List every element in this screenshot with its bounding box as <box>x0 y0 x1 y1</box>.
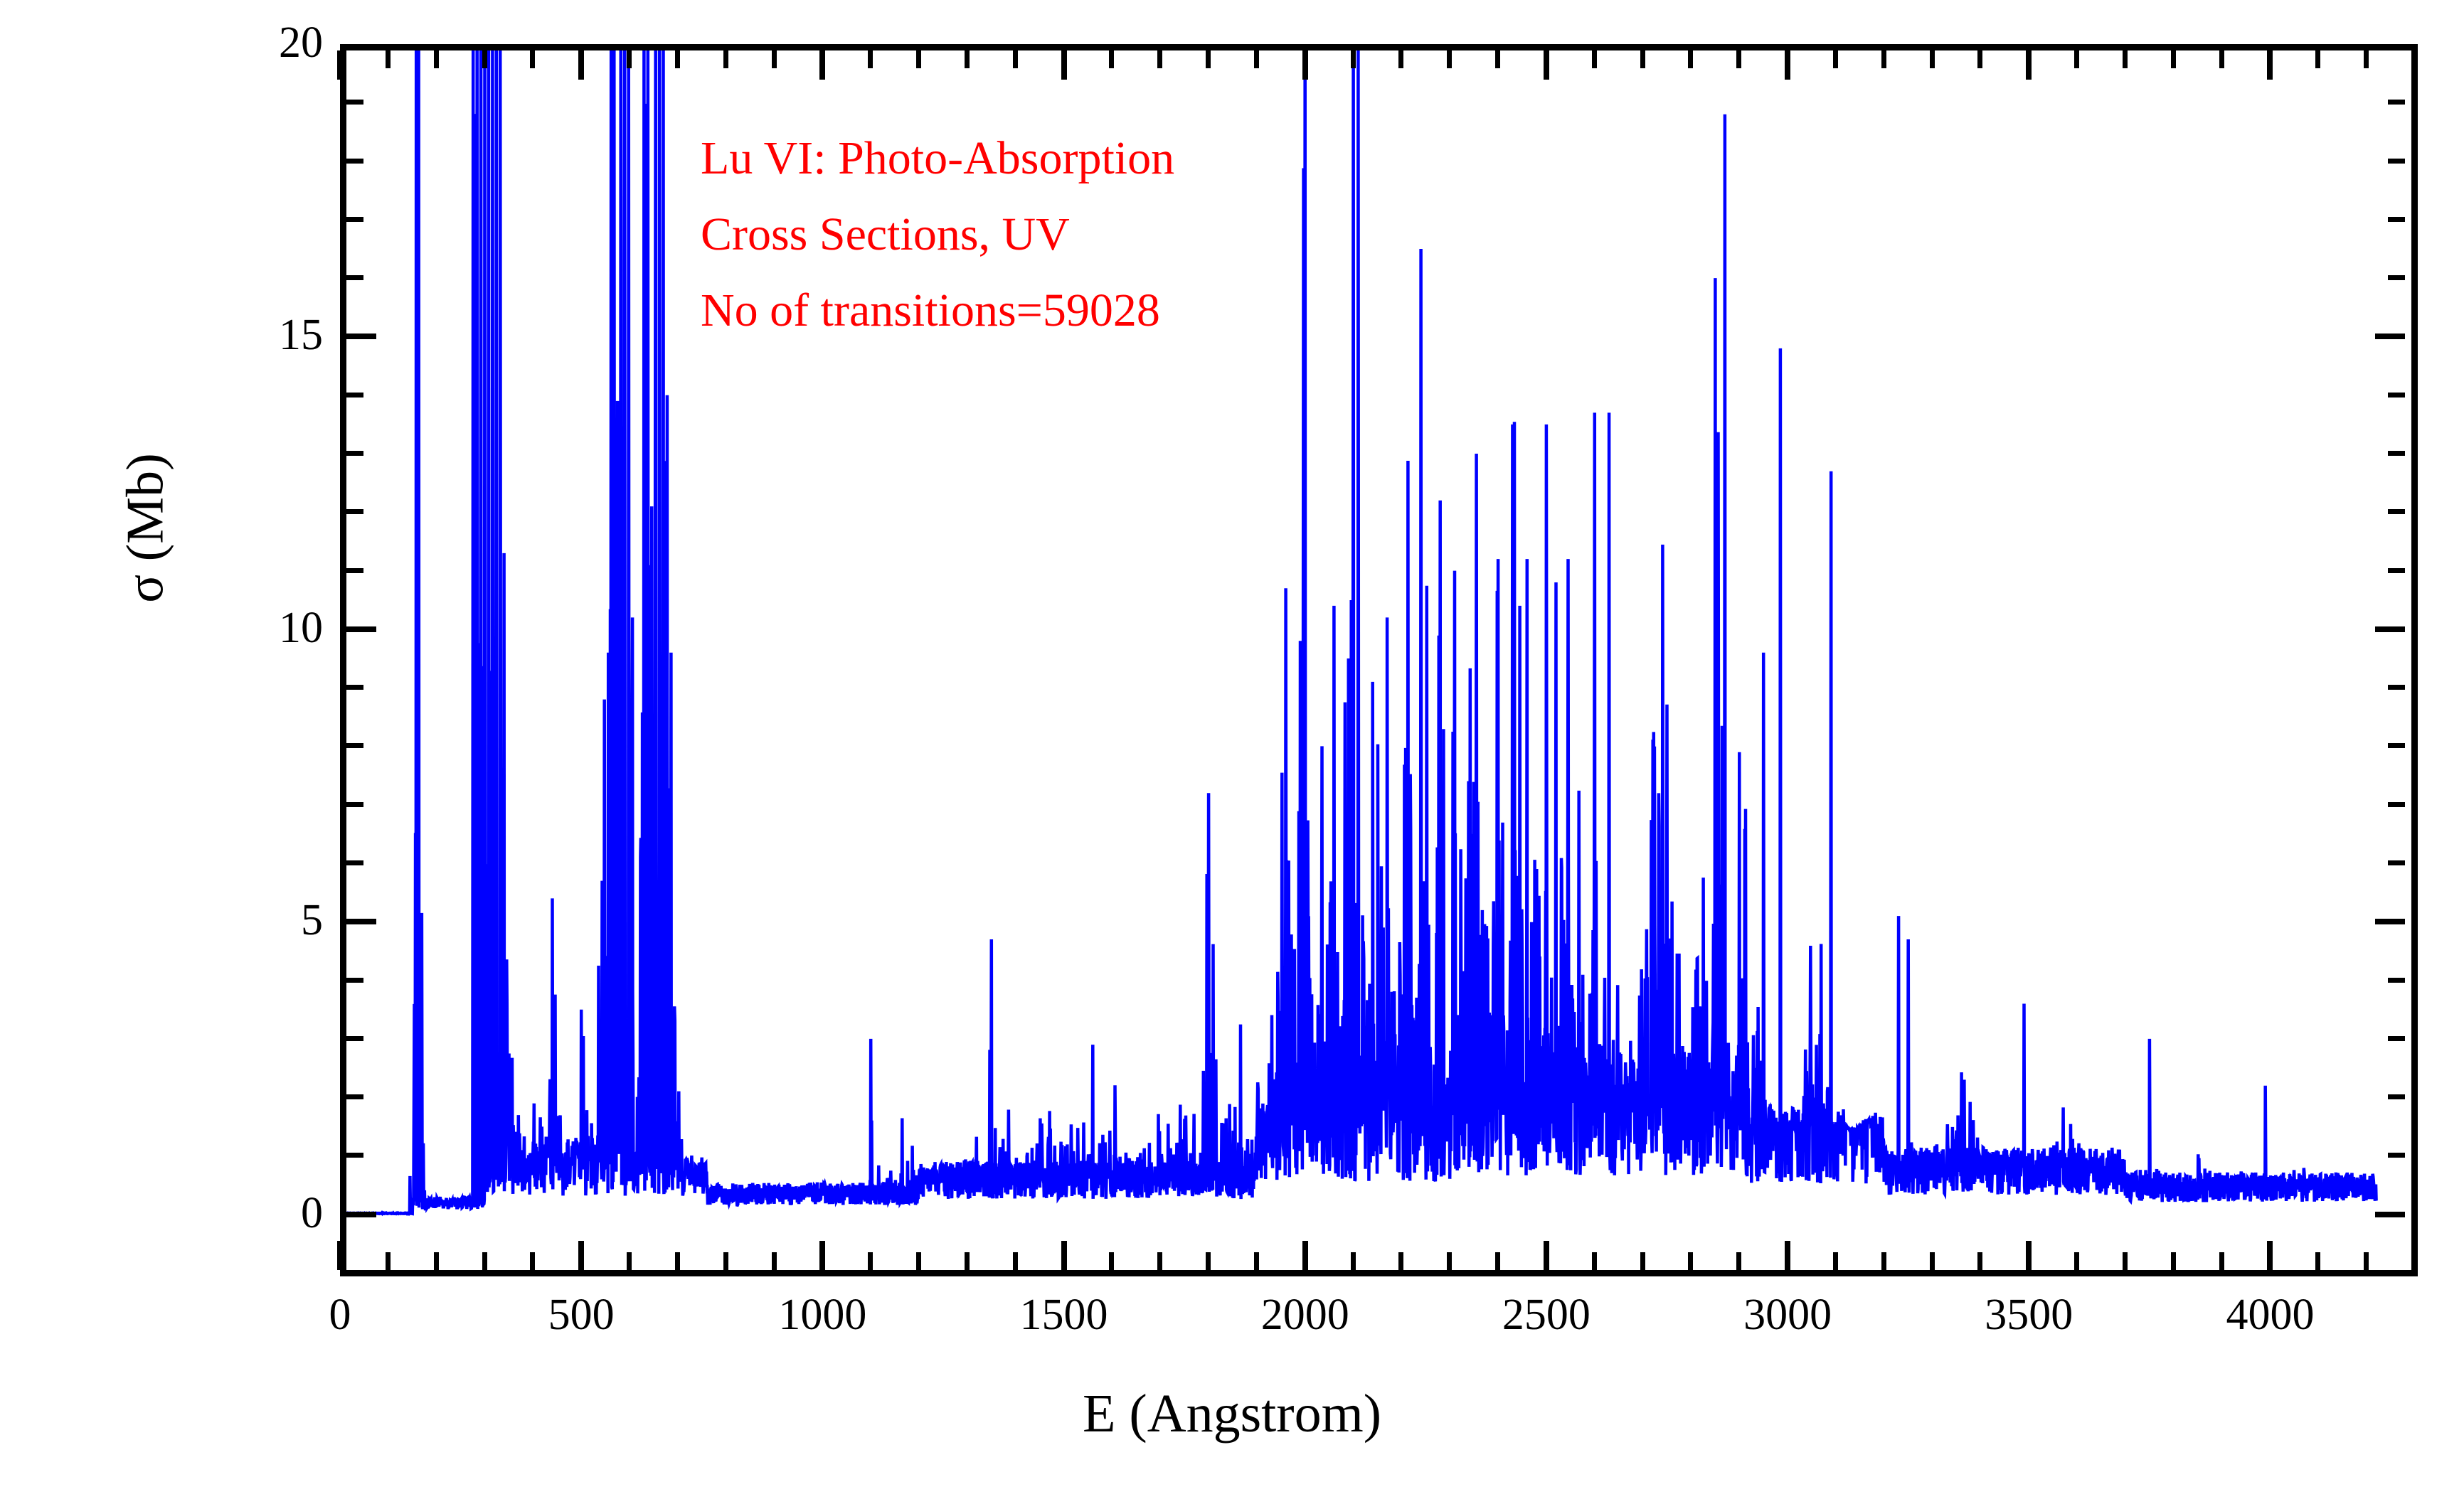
right-frame-line <box>2411 44 2418 1276</box>
y-tick-label-10: 10 <box>279 606 323 650</box>
plot-area <box>340 44 2415 1273</box>
y-tick-13 <box>346 451 363 456</box>
y-tick-7 <box>346 802 363 807</box>
x-tick-top-1600 <box>1109 50 1114 68</box>
x-tick-top-2300 <box>1447 50 1452 68</box>
x-tick-top-2600 <box>1592 50 1597 68</box>
top-frame-line <box>340 44 2418 50</box>
x-tick-1400 <box>1013 1252 1018 1270</box>
y-tick-right-4 <box>2388 978 2405 983</box>
y-tick-17 <box>346 217 363 222</box>
x-tick-label-1500: 1500 <box>1020 1293 1108 1337</box>
y-tick-1 <box>346 1153 363 1158</box>
y-tick-14 <box>346 393 363 397</box>
x-tick-top-500 <box>578 50 584 80</box>
x-tick-top-3100 <box>1833 50 1838 68</box>
annotation-block: Lu VI: Photo-Absorption Cross Sections, … <box>701 121 1174 349</box>
y-axis-title: σ (Mb) <box>116 379 176 678</box>
x-tick-400 <box>530 1252 535 1270</box>
x-tick-2100 <box>1351 1252 1356 1270</box>
x-tick-1900 <box>1254 1252 1259 1270</box>
y-tick--1 <box>346 1270 363 1275</box>
y-tick-label-15: 15 <box>279 313 323 357</box>
x-tick-3300 <box>1930 1252 1935 1270</box>
y-tick-right-15 <box>2375 334 2405 339</box>
x-tick-3400 <box>1977 1252 1982 1270</box>
x-tick-1100 <box>868 1252 873 1270</box>
y-tick-12 <box>346 509 363 514</box>
figure-photoabsorption-spectrum: 20151050 0500100015002000250030003500400… <box>0 0 2464 1494</box>
x-tick-2700 <box>1640 1252 1645 1270</box>
x-tick-top-1400 <box>1013 50 1018 68</box>
x-tick-1600 <box>1109 1252 1114 1270</box>
x-tick-top-0 <box>337 50 343 80</box>
spectrum-svg <box>340 44 2415 1273</box>
x-tick-top-3700 <box>2123 50 2128 68</box>
x-tick-label-3500: 3500 <box>1985 1293 2073 1337</box>
y-tick-11 <box>346 568 363 573</box>
x-tick-top-3400 <box>1977 50 1982 68</box>
x-tick-200 <box>434 1252 439 1270</box>
y-tick-right-3 <box>2388 1036 2405 1041</box>
x-tick-3700 <box>2123 1252 2128 1270</box>
x-tick-1000 <box>819 1241 825 1270</box>
y-tick-label-0: 0 <box>301 1191 323 1235</box>
y-tick-right-16 <box>2388 275 2405 280</box>
x-tick-top-300 <box>482 50 487 68</box>
x-axis-line <box>340 1270 2418 1276</box>
x-tick-top-3900 <box>2219 50 2224 68</box>
x-tick-3900 <box>2219 1252 2224 1270</box>
x-tick-label-3000: 3000 <box>1743 1293 1832 1337</box>
x-tick-4300 <box>2412 1252 2417 1270</box>
y-tick-right-19 <box>2388 100 2405 105</box>
x-tick-3500 <box>2026 1241 2032 1270</box>
x-tick-top-1300 <box>965 50 970 68</box>
y-tick-15 <box>346 334 376 339</box>
x-tick-0 <box>337 1241 343 1270</box>
x-tick-top-4100 <box>2315 50 2320 68</box>
x-tick-top-1700 <box>1157 50 1162 68</box>
y-tick-right-12 <box>2388 509 2405 514</box>
y-tick-right-8 <box>2388 743 2405 748</box>
annotation-line-3: No of transitions=59028 <box>701 273 1174 349</box>
x-tick-300 <box>482 1252 487 1270</box>
x-tick-3200 <box>1881 1252 1886 1270</box>
y-tick-18 <box>346 159 363 164</box>
y-tick-10 <box>346 626 376 632</box>
y-tick-right-18 <box>2388 159 2405 164</box>
x-tick-2600 <box>1592 1252 1597 1270</box>
y-tick-right-1 <box>2388 1153 2405 1158</box>
x-tick-top-1500 <box>1061 50 1067 80</box>
x-tick-4000 <box>2267 1241 2273 1270</box>
x-tick-2400 <box>1495 1252 1500 1270</box>
x-tick-top-900 <box>772 50 777 68</box>
x-tick-top-3800 <box>2171 50 2176 68</box>
x-tick-1800 <box>1206 1252 1211 1270</box>
y-tick-right-9 <box>2388 685 2405 690</box>
x-axis-title: E (Angstrom) <box>0 1383 2464 1445</box>
y-tick-6 <box>346 860 363 865</box>
x-tick-top-4200 <box>2364 50 2369 68</box>
x-tick-top-4300 <box>2412 50 2417 68</box>
x-tick-label-2500: 2500 <box>1502 1293 1591 1337</box>
x-tick-top-700 <box>675 50 680 68</box>
x-tick-top-2800 <box>1688 50 1693 68</box>
x-tick-3100 <box>1833 1252 1838 1270</box>
y-tick-19 <box>346 100 363 105</box>
x-tick-top-2400 <box>1495 50 1500 68</box>
y-tick-right-11 <box>2388 568 2405 573</box>
y-tick-3 <box>346 1036 363 1041</box>
spectrum-curve <box>340 44 2415 1273</box>
annotation-line-2: Cross Sections, UV <box>701 197 1174 273</box>
y-tick-4 <box>346 978 363 983</box>
y-axis-line <box>340 44 346 1276</box>
y-tick-right-7 <box>2388 802 2405 807</box>
x-tick-800 <box>723 1252 728 1270</box>
x-tick-2900 <box>1736 1252 1741 1270</box>
x-tick-top-800 <box>723 50 728 68</box>
x-tick-top-3300 <box>1930 50 1935 68</box>
x-tick-top-3200 <box>1881 50 1886 68</box>
y-tick-right-13 <box>2388 451 2405 456</box>
x-tick-label-2000: 2000 <box>1261 1293 1349 1337</box>
x-tick-top-1000 <box>819 50 825 80</box>
y-tick-right-17 <box>2388 217 2405 222</box>
y-tick-right-2 <box>2388 1094 2405 1099</box>
annotation-line-1: Lu VI: Photo-Absorption <box>701 121 1174 197</box>
x-tick-top-1800 <box>1206 50 1211 68</box>
x-tick-1700 <box>1157 1252 1162 1270</box>
x-tick-top-200 <box>434 50 439 68</box>
y-tick-16 <box>346 275 363 280</box>
x-tick-900 <box>772 1252 777 1270</box>
y-tick-right-14 <box>2388 393 2405 397</box>
x-tick-top-4000 <box>2267 50 2273 80</box>
x-tick-top-1900 <box>1254 50 1259 68</box>
x-tick-top-2700 <box>1640 50 1645 68</box>
y-tick-right-6 <box>2388 860 2405 865</box>
y-tick-right-5 <box>2375 919 2405 924</box>
x-tick-top-600 <box>627 50 632 68</box>
y-tick-right-0 <box>2375 1212 2405 1217</box>
x-tick-500 <box>578 1241 584 1270</box>
x-tick-1500 <box>1061 1241 1067 1270</box>
y-tick-label-20: 20 <box>279 21 323 65</box>
x-tick-1200 <box>916 1252 921 1270</box>
x-tick-top-3000 <box>1785 50 1790 80</box>
x-tick-top-3600 <box>2074 50 2079 68</box>
x-tick-2300 <box>1447 1252 1452 1270</box>
x-tick-top-400 <box>530 50 535 68</box>
x-tick-top-2000 <box>1302 50 1308 80</box>
y-tick-right--1 <box>2388 1270 2405 1275</box>
x-tick-label-1000: 1000 <box>778 1293 866 1337</box>
x-tick-top-3500 <box>2026 50 2032 80</box>
x-tick-4200 <box>2364 1252 2369 1270</box>
x-tick-2000 <box>1302 1241 1308 1270</box>
y-tick-8 <box>346 743 363 748</box>
y-tick-label-5: 5 <box>301 898 323 942</box>
x-tick-top-2500 <box>1544 50 1549 80</box>
x-tick-2800 <box>1688 1252 1693 1270</box>
x-tick-1300 <box>965 1252 970 1270</box>
x-tick-3600 <box>2074 1252 2079 1270</box>
x-tick-label-500: 500 <box>548 1293 615 1337</box>
x-tick-3000 <box>1785 1241 1790 1270</box>
x-tick-top-2200 <box>1398 50 1403 68</box>
x-tick-2500 <box>1544 1241 1549 1270</box>
x-tick-top-2900 <box>1736 50 1741 68</box>
y-tick-0 <box>346 1212 376 1217</box>
y-tick-right-10 <box>2375 626 2405 632</box>
x-tick-3800 <box>2171 1252 2176 1270</box>
spectrum-path <box>340 44 2377 1214</box>
x-tick-4100 <box>2315 1252 2320 1270</box>
x-tick-top-2100 <box>1351 50 1356 68</box>
x-tick-top-1100 <box>868 50 873 68</box>
x-tick-700 <box>675 1252 680 1270</box>
x-tick-label-4000: 4000 <box>2226 1293 2314 1337</box>
x-tick-600 <box>627 1252 632 1270</box>
x-tick-top-100 <box>386 50 391 68</box>
y-tick-5 <box>346 919 376 924</box>
x-tick-2200 <box>1398 1252 1403 1270</box>
y-tick-2 <box>346 1094 363 1099</box>
x-tick-top-1200 <box>916 50 921 68</box>
y-tick-9 <box>346 685 363 690</box>
x-tick-100 <box>386 1252 391 1270</box>
x-tick-label-0: 0 <box>329 1293 351 1337</box>
